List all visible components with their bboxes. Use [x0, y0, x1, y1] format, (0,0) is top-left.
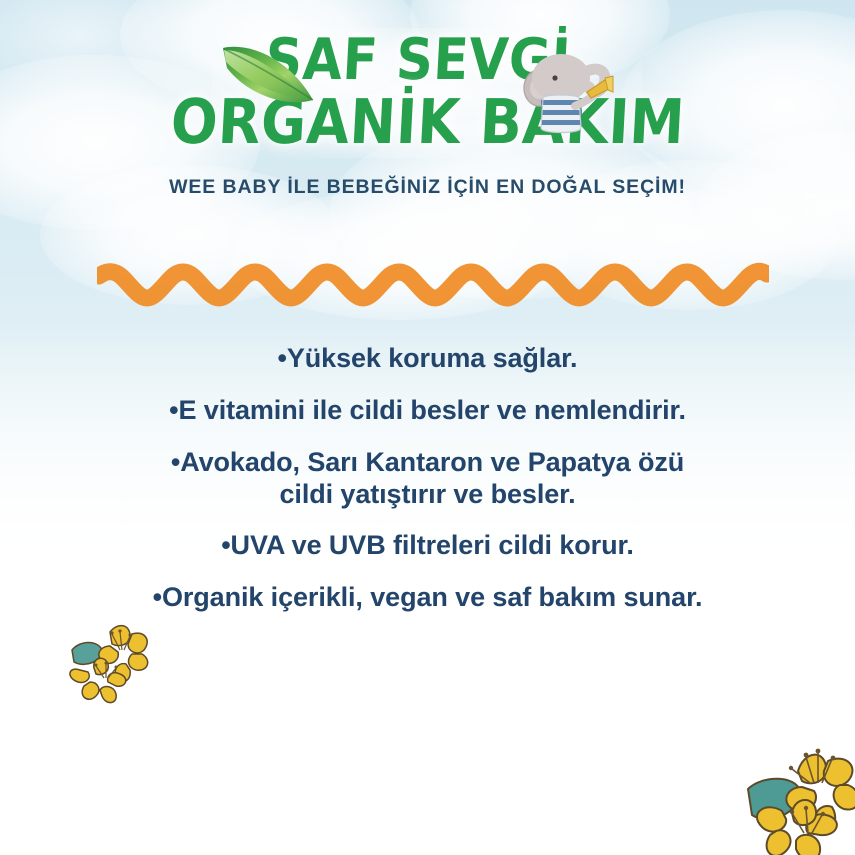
elephant-mascot-icon — [505, 42, 615, 147]
list-item-text: •UVA ve UVB filtreleri cildi korur. — [0, 530, 855, 562]
list-item-text: •E vitamini ile cildi besler ve nemlendi… — [0, 395, 855, 427]
page-subtitle: WEE BABY İLE BEBEĞİNİZ İÇİN EN DOĞAL SEÇ… — [0, 176, 855, 199]
list-item-text: •Organik içerikli, vegan ve saf bakım su… — [0, 582, 855, 614]
yellow-flower-cluster-icon — [722, 733, 855, 855]
list-item-text: •Yüksek koruma sağlar. — [0, 343, 855, 375]
list-item-text-line-2: cildi yatıştırır ve besler. — [0, 479, 855, 511]
list-item: •E vitamini ile cildi besler ve nemlendi… — [0, 395, 855, 427]
orange-zigzag-divider — [97, 258, 769, 312]
poster-canvas: SAF SEVGİ, ORGANİK BAKIM WEE BABY İLE BE… — [0, 0, 855, 855]
list-item: •Organik içerikli, vegan ve saf bakım su… — [0, 582, 855, 614]
benefits-list: •Yüksek koruma sağlar. •E vitamini ile c… — [0, 343, 855, 614]
list-item-text: •Avokado, Sarı Kantaron ve Papatya özü — [0, 447, 855, 479]
list-item: •Yüksek koruma sağlar. — [0, 343, 855, 375]
yellow-flower-icon — [58, 612, 162, 712]
list-item: •UVA ve UVB filtreleri cildi korur. — [0, 530, 855, 562]
header-block: SAF SEVGİ, ORGANİK BAKIM WEE BABY İLE BE… — [0, 38, 855, 199]
list-item: •Avokado, Sarı Kantaron ve Papatya özü c… — [0, 447, 855, 511]
green-leaf-icon — [213, 34, 325, 126]
